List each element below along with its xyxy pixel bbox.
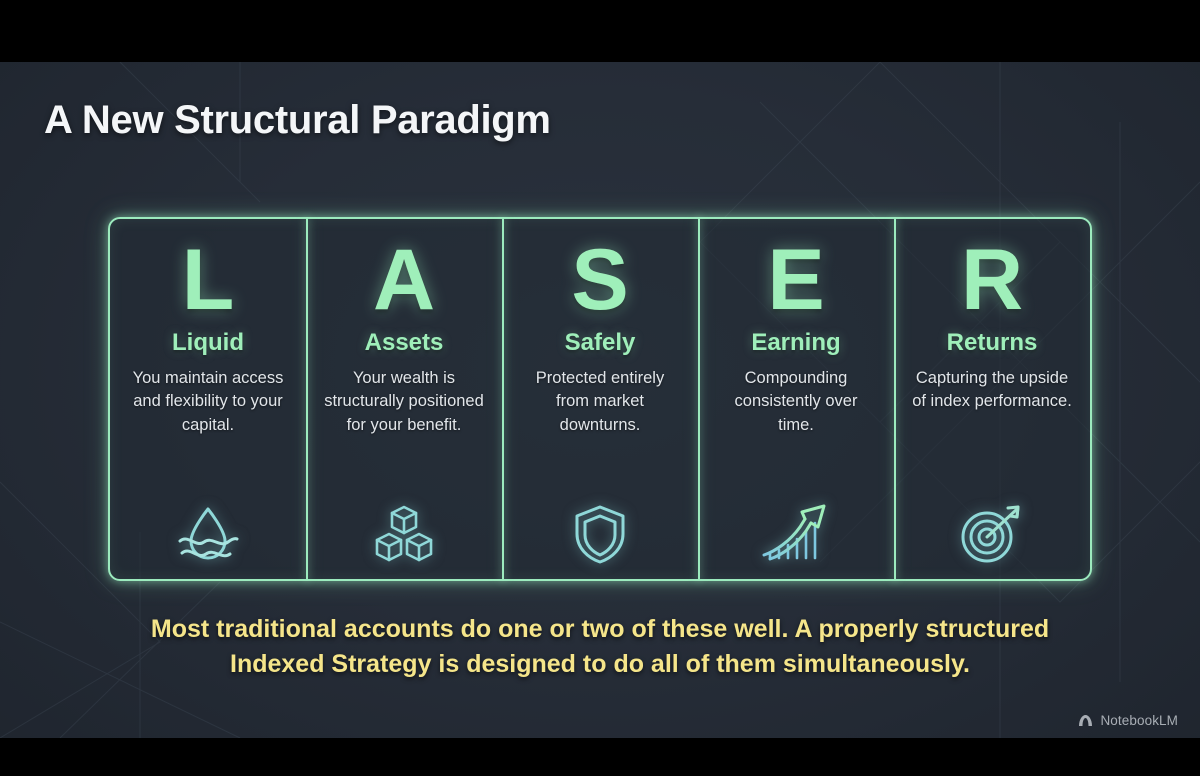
water-drop-icon xyxy=(110,503,306,565)
target-arrow-icon xyxy=(894,503,1090,565)
watermark: NotebookLM xyxy=(1077,713,1178,728)
card-letter: R xyxy=(961,237,1023,323)
caption-line-1: Most traditional accounts do one or two … xyxy=(110,612,1090,647)
card-description: Your wealth is structurally positioned f… xyxy=(324,367,484,437)
card-description: Compounding consistently over time. xyxy=(716,367,876,437)
card-description: You maintain access and flexibility to y… xyxy=(128,367,288,437)
laser-card-returns[interactable]: R Returns Capturing the upside of index … xyxy=(894,219,1090,579)
card-description: Protected entirely from market downturns… xyxy=(520,367,680,437)
card-letter: A xyxy=(373,237,435,323)
stacked-cubes-icon xyxy=(306,503,502,565)
card-letter: E xyxy=(767,237,824,323)
card-heading: Assets xyxy=(365,329,444,357)
laser-card-safely[interactable]: S Safely Protected entirely from market … xyxy=(502,219,698,579)
card-heading: Earning xyxy=(751,329,840,357)
card-heading: Liquid xyxy=(172,329,244,357)
laser-acronym-frame: L Liquid You maintain access and flexibi… xyxy=(108,217,1092,581)
caption-line-2: Indexed Strategy is designed to do all o… xyxy=(110,647,1090,682)
letterbox-top xyxy=(0,0,1200,62)
slide-canvas: A New Structural Paradigm L Liquid You m… xyxy=(0,62,1200,738)
watermark-label: NotebookLM xyxy=(1100,713,1178,728)
page-title: A New Structural Paradigm xyxy=(44,98,551,143)
slide-root: A New Structural Paradigm L Liquid You m… xyxy=(0,0,1200,776)
bottom-caption: Most traditional accounts do one or two … xyxy=(0,612,1200,681)
growth-arrow-chart-icon xyxy=(698,501,894,565)
laser-card-assets[interactable]: A Assets Your wealth is structurally pos… xyxy=(306,219,502,579)
shield-icon xyxy=(502,503,698,565)
card-heading: Safely xyxy=(565,329,636,357)
card-description: Capturing the upside of index performanc… xyxy=(912,367,1072,414)
card-heading: Returns xyxy=(947,329,1038,357)
card-letter: L xyxy=(182,237,235,323)
letterbox-bottom xyxy=(0,738,1200,776)
card-letter: S xyxy=(571,237,628,323)
laser-card-earning[interactable]: E Earning Compounding consistently over … xyxy=(698,219,894,579)
notebooklm-logo-icon xyxy=(1077,713,1094,728)
laser-card-liquid[interactable]: L Liquid You maintain access and flexibi… xyxy=(110,219,306,579)
